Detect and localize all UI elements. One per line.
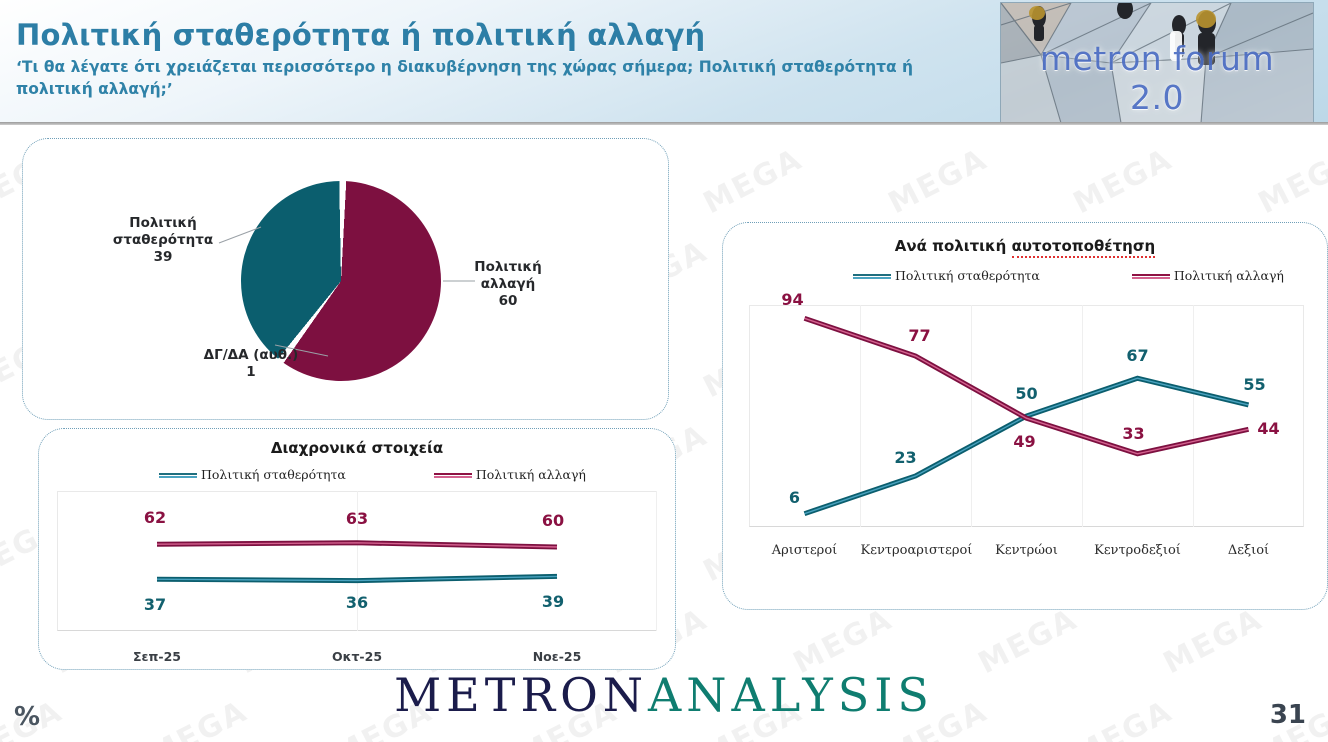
x-axis-label: Οκτ-25 <box>302 649 412 664</box>
data-label: 23 <box>890 448 922 467</box>
watermark-text: MEGA <box>1253 142 1328 221</box>
data-label: 39 <box>537 592 569 611</box>
legend-item-stability: Πολιτική σταθερότητα <box>853 268 1040 283</box>
data-label: 6 <box>779 488 811 507</box>
logo-wordmark: metron forum 2.0 <box>1009 39 1305 117</box>
page-title: Πολιτική σταθερότητα ή πολιτική αλλαγή <box>16 20 976 52</box>
watermark-text: MEGA <box>883 142 994 221</box>
x-axis-label: Νοε-25 <box>502 649 612 664</box>
x-axis-label: Κεντροαριστεροί <box>861 543 971 558</box>
pie-chart-panel: Πολιτική σταθερότητα 39 Πολιτική αλλαγή … <box>22 138 669 420</box>
self-series-lines <box>749 305 1304 527</box>
x-axis-label: Αριστεροί <box>750 543 860 558</box>
watermark-text: MEGA <box>1068 142 1179 221</box>
x-axis-label: Κεντρώοι <box>972 543 1082 558</box>
page-number: 31 <box>1270 700 1306 730</box>
self-chart-title-plain: Ανά πολιτική <box>895 237 1012 255</box>
x-axis-label: Δεξιοί <box>1194 543 1304 558</box>
data-label: 94 <box>777 290 809 309</box>
legend-label-change: Πολιτική αλλαγή <box>476 467 586 482</box>
self-chart-title: Ανά πολιτική αυτοτοποθέτηση <box>723 237 1327 255</box>
trend-chart-legend: Πολιτική σταθερότητα Πολιτική αλλαγή <box>159 467 586 482</box>
metron-forum-logo: metron forum 2.0 <box>1000 2 1314 124</box>
trend-chart-title: Διαχρονικά στοιχεία <box>39 439 675 457</box>
data-label: 67 <box>1122 346 1154 365</box>
data-label: 33 <box>1118 424 1150 443</box>
self-placement-chart-panel: Ανά πολιτική αυτοτοποθέτηση Πολιτική στα… <box>722 222 1328 610</box>
x-axis-label: Σεπ-25 <box>102 649 212 664</box>
x-axis-label: Κεντροδεξιοί <box>1083 543 1193 558</box>
pie-label-stability: Πολιτική σταθερότητα 39 <box>105 215 221 266</box>
legend-item-stability: Πολιτική σταθερότητα <box>159 467 346 482</box>
metron-analysis-logo: METRONANALYSIS <box>0 668 1328 722</box>
data-label: 77 <box>904 326 936 345</box>
slide-header: Πολιτική σταθερότητα ή πολιτική αλλαγή ‘… <box>0 0 1328 125</box>
pie-leader-lines <box>23 139 668 419</box>
data-label: 62 <box>139 508 171 527</box>
data-label: 36 <box>341 593 373 612</box>
page-subtitle: ‘Τι θα λέγατε ότι χρειάζεται περισσότερο… <box>16 56 966 101</box>
brand-metron: METRON <box>394 668 648 722</box>
self-plot-area <box>749 305 1304 527</box>
brand-analysis: ANALYSIS <box>648 668 934 722</box>
slide: MEGAMEGAMEGAMEGAMEGAMEGAMEGAMEGAMEGAMEGA… <box>0 0 1328 742</box>
legend-label-stability: Πολιτική σταθερότητα <box>895 268 1040 283</box>
self-chart-title-underlined: αυτοτοποθέτηση <box>1012 237 1156 258</box>
data-label: 37 <box>139 595 171 614</box>
legend-label-change: Πολιτική αλλαγή <box>1174 268 1284 283</box>
data-label: 50 <box>1011 384 1043 403</box>
data-label: 60 <box>537 511 569 530</box>
watermark-text: MEGA <box>698 142 809 221</box>
legend-item-change: Πολιτική αλλαγή <box>434 467 586 482</box>
legend-label-stability: Πολιτική σταθερότητα <box>201 467 346 482</box>
legend-item-change: Πολιτική αλλαγή <box>1132 268 1284 283</box>
pie-label-change: Πολιτική αλλαγή 60 <box>453 259 563 310</box>
pie-label-dk: ΔΓ/ΔΑ (αυθ.) 1 <box>171 347 331 381</box>
trend-chart-panel: Διαχρονικά στοιχεία Πολιτική σταθερότητα… <box>38 428 676 670</box>
data-label: 44 <box>1253 419 1285 438</box>
data-label: 49 <box>1009 432 1041 451</box>
self-chart-legend: Πολιτική σταθερότητα Πολιτική αλλαγή <box>853 268 1284 283</box>
data-label: 55 <box>1239 375 1271 394</box>
data-label: 63 <box>341 509 373 528</box>
